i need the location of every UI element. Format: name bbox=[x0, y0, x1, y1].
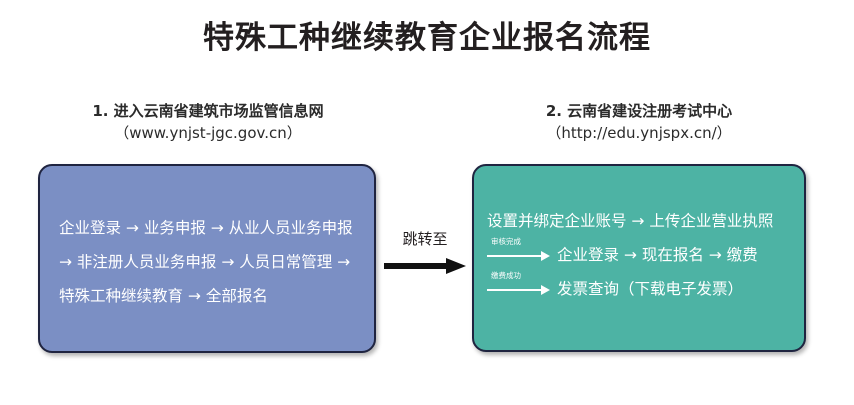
column-header-left-title: 1. 进入云南省建筑市场监管信息网 bbox=[38, 100, 378, 122]
right-arrow-icon bbox=[384, 258, 468, 274]
column-header-right: 2. 云南省建设注册考试中心 （http://edu.ynjspx.cn/） bbox=[472, 100, 806, 144]
column-header-right-title: 2. 云南省建设注册考试中心 bbox=[472, 100, 806, 122]
flow-step-line: 企业登录 → 业务申报 → 从业人员业务申报 bbox=[59, 211, 353, 245]
column-header-right-url: （http://edu.ynjspx.cn/） bbox=[472, 122, 806, 144]
labelled-arrow-icon: 审核完成 bbox=[487, 250, 551, 262]
labelled-arrow-caption: 缴费成功 bbox=[491, 271, 521, 280]
labelled-arrow-icon: 缴费成功 bbox=[487, 284, 551, 296]
flow-step-text: 发票查询（下载电子发票） bbox=[557, 280, 743, 298]
column-header-left: 1. 进入云南省建筑市场监管信息网 （www.ynjst-jgc.gov.cn） bbox=[38, 100, 378, 144]
jump-connector-label: 跳转至 bbox=[380, 228, 470, 249]
flow-step-line: 特殊工种继续教育 → 全部报名 bbox=[59, 279, 353, 313]
flow-box-right-text: 设置并绑定企业账号 → 上传企业营业执照 审核完成 企业登录 → 现在报名 → … bbox=[487, 204, 773, 306]
arrow-head bbox=[541, 285, 550, 295]
labelled-arrow-caption: 审核完成 bbox=[491, 237, 521, 246]
jump-connector: 跳转至 bbox=[380, 228, 470, 284]
arrow-shaft bbox=[487, 289, 543, 291]
arrow-shaft bbox=[487, 255, 543, 257]
arrow-head bbox=[541, 251, 550, 261]
flow-box-left: 企业登录 → 业务申报 → 从业人员业务申报 → 非注册人员业务申报 → 人员日… bbox=[38, 164, 376, 353]
page-title: 特殊工种继续教育企业报名流程 bbox=[0, 18, 854, 58]
flow-step-line: 审核完成 企业登录 → 现在报名 → 缴费 bbox=[487, 238, 773, 272]
flow-box-left-text: 企业登录 → 业务申报 → 从业人员业务申报 → 非注册人员业务申报 → 人员日… bbox=[59, 211, 353, 313]
arrow-head bbox=[446, 258, 466, 274]
arrow-shaft bbox=[384, 263, 448, 269]
flow-box-right: 设置并绑定企业账号 → 上传企业营业执照 审核完成 企业登录 → 现在报名 → … bbox=[472, 164, 806, 352]
flow-step-text: 企业登录 → 现在报名 → 缴费 bbox=[557, 246, 758, 264]
flow-step-line: 设置并绑定企业账号 → 上传企业营业执照 bbox=[487, 204, 773, 238]
flow-step-line: 缴费成功 发票查询（下载电子发票） bbox=[487, 272, 773, 306]
flow-step-line: → 非注册人员业务申报 → 人员日常管理 → bbox=[59, 245, 353, 279]
column-header-left-url: （www.ynjst-jgc.gov.cn） bbox=[38, 122, 378, 144]
